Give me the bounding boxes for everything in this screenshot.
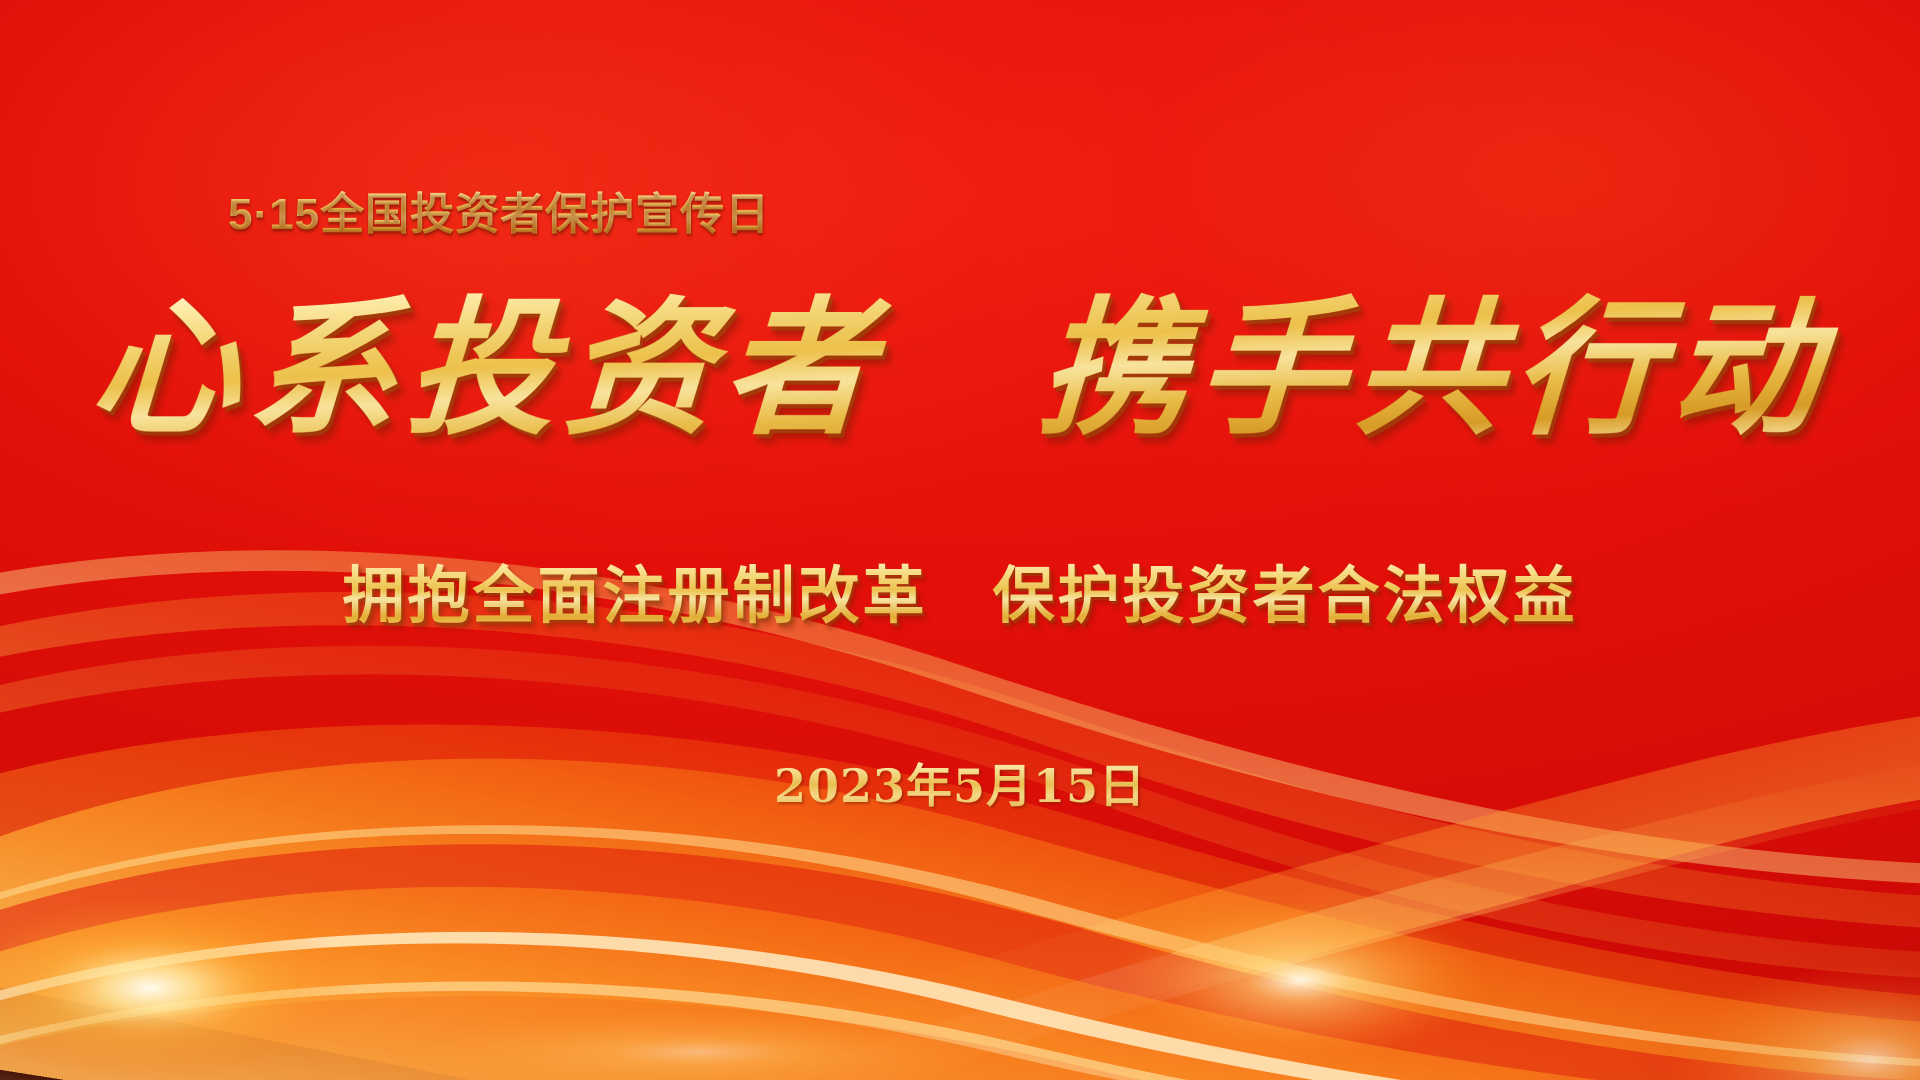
investor-protection-banner: 5·15全国投资者保护宣传日 心系投资者 携手共行动 拥抱全面注册制改革 保护投… xyxy=(0,0,1920,1080)
event-date: 2023年5月15日 xyxy=(0,750,1920,816)
banner-text-block: 5·15全国投资者保护宣传日 心系投资者 携手共行动 拥抱全面注册制改革 保护投… xyxy=(0,0,1920,1080)
page-subtitle: 拥抱全面注册制改革 保护投资者合法权益 xyxy=(0,545,1920,635)
event-eyebrow-label: 5·15全国投资者保护宣传日 xyxy=(228,178,770,242)
page-title: 心系投资者 携手共行动 xyxy=(0,286,1920,452)
